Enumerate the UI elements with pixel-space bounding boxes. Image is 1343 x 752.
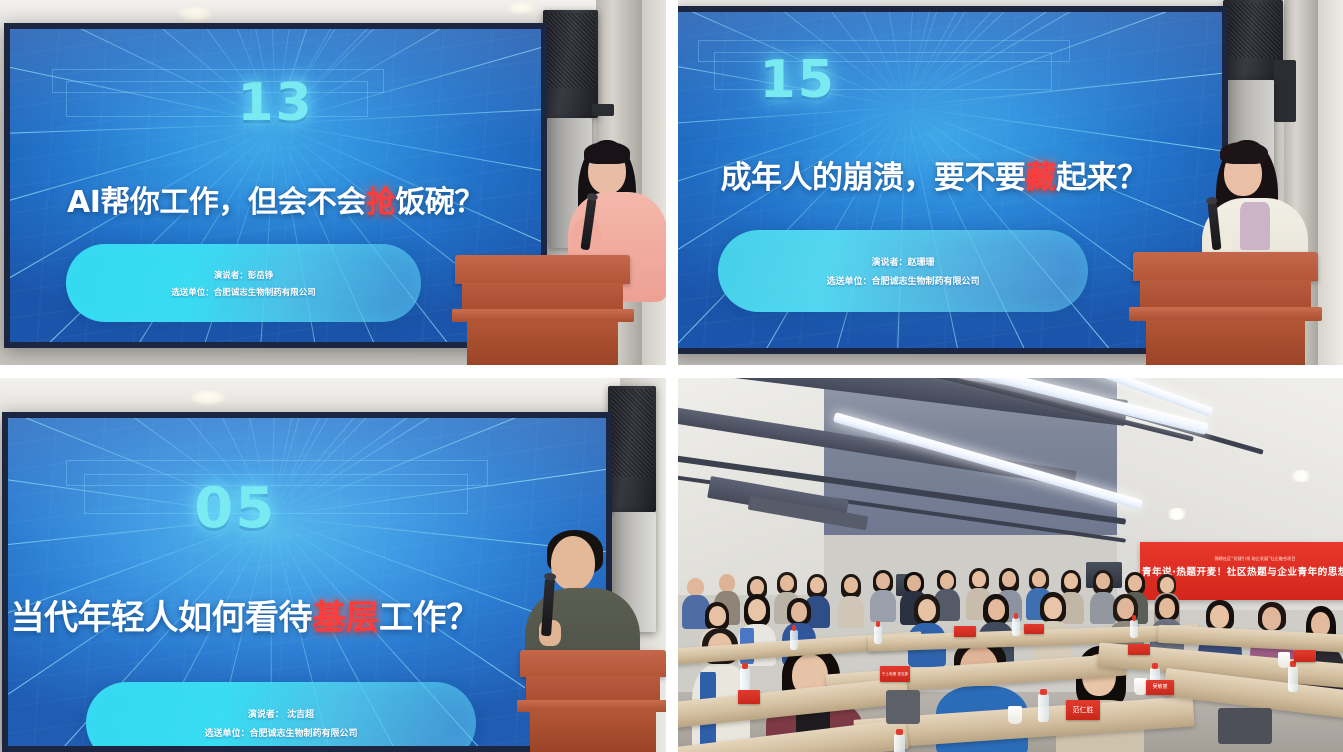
nameplate: [1024, 624, 1044, 634]
head: [876, 573, 890, 589]
head: [748, 599, 766, 621]
slide-title: 成年人的崩溃，要不要藏起来？: [678, 152, 1206, 197]
nameplate: 吴敏丽: [1146, 680, 1174, 695]
photo-collage: 13 AI帮你工作，但会不会抢饭碗？ 演说者：彭岳铮 选送单位：合肥诚志生物制药…: [0, 0, 1343, 752]
nameplate: [738, 690, 760, 704]
head: [1210, 605, 1229, 628]
speaker-info-pill: 演说者：赵珊珊 选送单位：合肥诚志生物制药有限公司: [718, 230, 1088, 312]
slide-number: 05: [8, 476, 534, 541]
podium-body: [1146, 320, 1305, 365]
ceiling-light-icon: [190, 390, 226, 405]
body: [870, 590, 896, 622]
head: [1064, 573, 1078, 589]
head: [940, 573, 954, 589]
water-bottle: [1288, 666, 1298, 692]
nameplate: [1294, 650, 1316, 662]
head: [988, 599, 1005, 620]
speaker-info-pill: 演说者：彭岳铮 选送单位：合肥诚志生物制药有限公司: [66, 244, 421, 322]
head: [907, 575, 921, 591]
speaker-mount: [592, 104, 614, 116]
ceiling-downlight: [1290, 470, 1312, 482]
audience-photo[interactable]: 锦绣社区“党建引领 助企发展”社企融合项目 青年说·热题开麦！社区热题与企业青年…: [678, 378, 1343, 752]
slide-title-suffix: 饭碗？: [395, 185, 484, 220]
podium-mid: [1140, 280, 1310, 309]
water-bottle: [874, 626, 882, 644]
podium: [1133, 252, 1318, 365]
presentation-slide: 05 当代年轻人如何看待基层工作？ 演说者： 沈吉超 选送单位：合肥诚志生物制药…: [8, 418, 606, 746]
head: [844, 577, 858, 593]
nameplate-text: 范仁胜: [1066, 700, 1100, 720]
podium-top: [455, 255, 630, 284]
speaker-grille: [611, 389, 653, 477]
podium-mid: [462, 283, 623, 312]
slide-title-prefix: 当代年轻人如何看待: [11, 598, 313, 638]
slide-number: 13: [10, 73, 541, 133]
wall-pillar: [1318, 0, 1343, 365]
speech-photo-15[interactable]: 15 成年人的崩溃，要不要藏起来？ 演说者：赵珊珊 选送单位：合肥诚志生物制药有…: [678, 0, 1343, 365]
head: [1262, 607, 1281, 630]
nameplate-text: 宁上电基 党支部: [880, 666, 910, 682]
head: [719, 574, 735, 592]
audience-member: [870, 570, 896, 620]
paper-cup: [1008, 706, 1022, 724]
audience-member: [838, 574, 864, 624]
water-bottle: [790, 630, 798, 650]
slide-title-suffix: 工作？: [379, 598, 480, 638]
nameplate: 宁上电基 党支部: [880, 666, 910, 682]
ceiling-light-icon: [508, 2, 534, 14]
head: [810, 577, 824, 593]
head: [687, 578, 704, 596]
body: [838, 596, 864, 628]
slide-title-highlight: 基层: [312, 598, 379, 638]
nameplate-text: 吴敏丽: [1146, 680, 1174, 695]
nameplate: 范仁胜: [1066, 700, 1100, 720]
water-bottle: [894, 734, 905, 752]
slide-number: 15: [678, 50, 1070, 110]
speaker-org-line: 选送单位：合肥诚志生物制药有限公司: [204, 726, 357, 739]
water-bottle: [1130, 620, 1138, 638]
hair-front: [584, 142, 630, 164]
speaker-info-pill: 演说者： 沈吉超 选送单位：合肥诚志生物制药有限公司: [86, 682, 476, 746]
head: [1002, 571, 1016, 587]
podium-top: [1133, 252, 1318, 281]
face: [551, 536, 595, 590]
head: [709, 606, 726, 626]
head: [791, 602, 807, 622]
inner-top: [1240, 202, 1270, 250]
head: [972, 571, 986, 587]
podium-body: [530, 711, 656, 752]
ceiling-light-icon: [178, 6, 212, 22]
chair: [1218, 708, 1272, 744]
speaker-mount: [1274, 60, 1296, 122]
speech-photo-13[interactable]: 13 AI帮你工作，但会不会抢饭碗？ 演说者：彭岳铮 选送单位：合肥诚志生物制药…: [0, 0, 666, 365]
head: [918, 599, 936, 621]
ceiling-speaker: [608, 386, 656, 512]
nameplate: [954, 626, 976, 637]
head: [750, 579, 764, 595]
paper-cup: [1278, 652, 1290, 668]
head: [1159, 598, 1175, 618]
head: [1128, 575, 1142, 591]
water-bottle: [1038, 694, 1049, 722]
slide-title-highlight: 藏: [1026, 160, 1057, 196]
podium-body: [467, 321, 618, 365]
head: [1160, 577, 1174, 593]
slide-title: AI帮你工作，但会不会抢饭碗？: [10, 177, 541, 221]
head: [1096, 573, 1110, 589]
head: [1032, 571, 1046, 587]
podium-top: [520, 650, 666, 677]
chair: [886, 690, 920, 724]
slide-title-prefix: 成年人的崩溃，要不要: [721, 160, 1026, 196]
podium: [520, 650, 666, 752]
speaker-name-line: 演说者：彭岳铮: [214, 269, 274, 281]
slide-title-highlight: 抢: [366, 185, 396, 220]
slide-title-prefix: AI帮你工作，但会不会: [67, 185, 366, 220]
nameplate: [1128, 644, 1150, 655]
speaker-name-line: 演说者：赵珊珊: [871, 255, 934, 268]
speaker-org-line: 选送单位：合肥诚志生物制药有限公司: [171, 286, 316, 298]
water-bottle: [1012, 618, 1020, 636]
speech-photo-05[interactable]: 05 当代年轻人如何看待基层工作？ 演说者： 沈吉超 选送单位：合肥诚志生物制药…: [0, 378, 666, 752]
slide-title: 当代年轻人如何看待基层工作？: [8, 590, 544, 639]
speaker-org-line: 选送单位：合肥诚志生物制药有限公司: [826, 274, 979, 287]
banner-small-line: 锦绣社区“党建引领 助企发展”社企融合项目: [1214, 556, 1295, 562]
hair-front: [1220, 142, 1268, 164]
ceiling-downlight: [1166, 508, 1188, 520]
speaker-name-line: 演说者： 沈吉超: [248, 707, 314, 720]
head: [1044, 597, 1062, 619]
slide-title-suffix: 起来？: [1056, 160, 1148, 196]
podium: [455, 255, 630, 365]
speaker-grille: [1226, 3, 1280, 58]
ceiling-speaker: [543, 10, 598, 118]
speaker-grille: [546, 13, 595, 88]
head: [780, 575, 794, 591]
podium-mid: [526, 676, 660, 703]
